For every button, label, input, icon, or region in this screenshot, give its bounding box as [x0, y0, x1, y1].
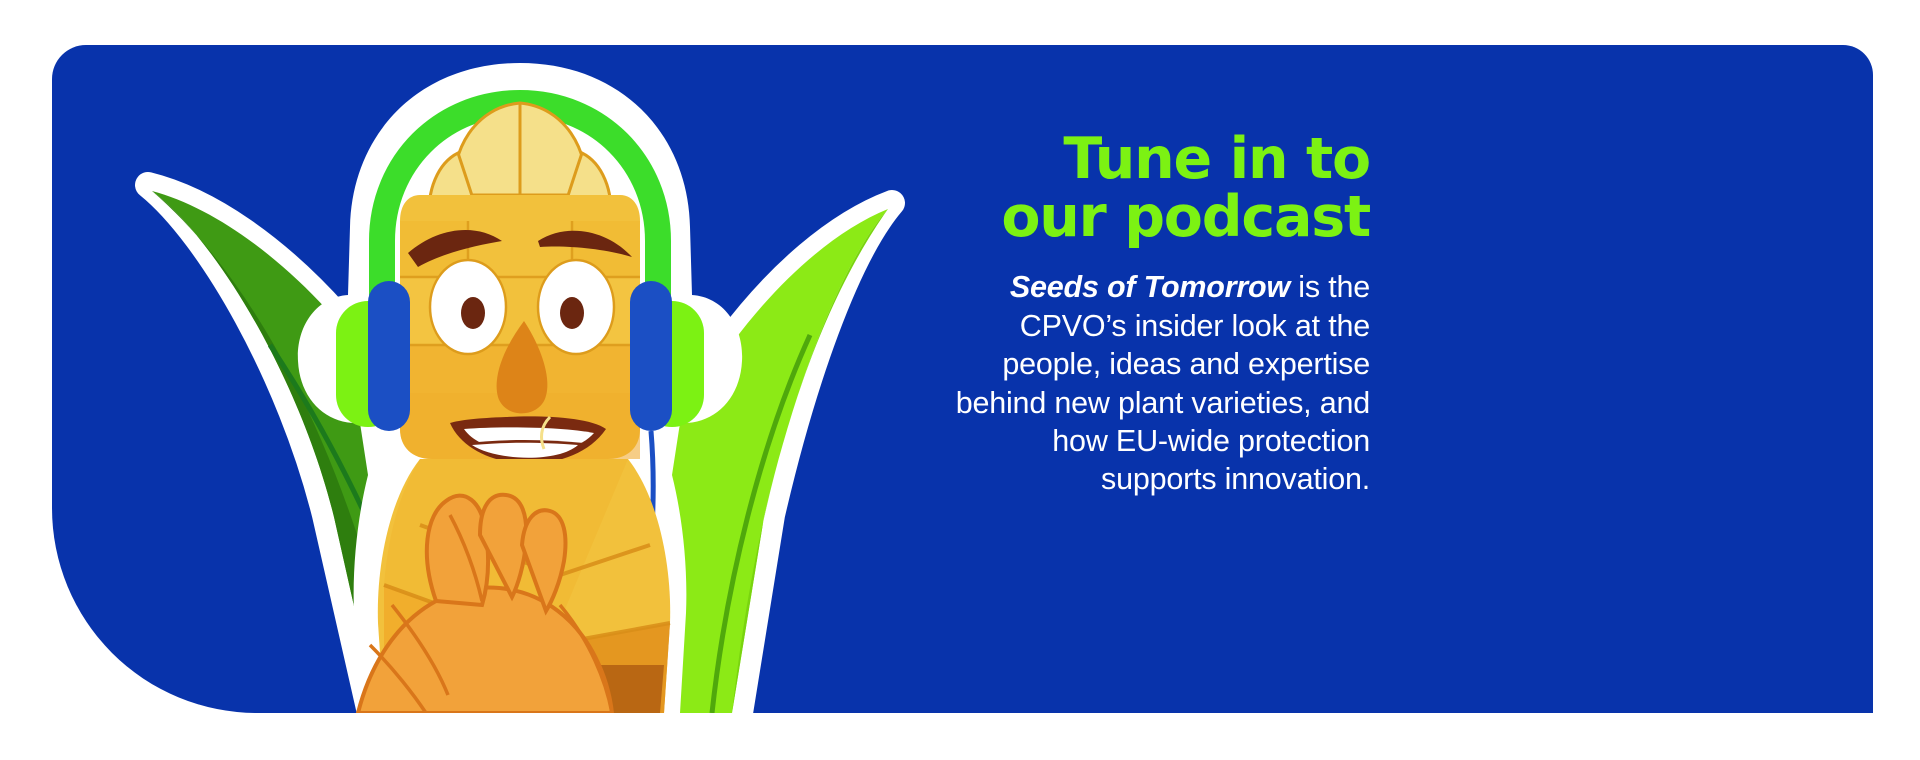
podcast-promo-banner: Tune in to our podcast Seeds of Tomorrow… — [0, 0, 1920, 760]
podcast-name: Seeds of Tomorrow — [1010, 270, 1290, 304]
eye-left-icon — [430, 260, 506, 354]
headphone-earpost-left-icon — [368, 281, 410, 431]
banner-description: Seeds of Tomorrow is the CPVO’s insider … — [930, 268, 1370, 499]
corn-mascot-illustration — [120, 45, 920, 713]
headphone-earpost-right-icon — [630, 281, 672, 431]
banner-text-column: Tune in to our podcast Seeds of Tomorrow… — [930, 130, 1370, 499]
page-title: Tune in to our podcast — [930, 130, 1370, 246]
eye-right-icon — [538, 260, 614, 354]
